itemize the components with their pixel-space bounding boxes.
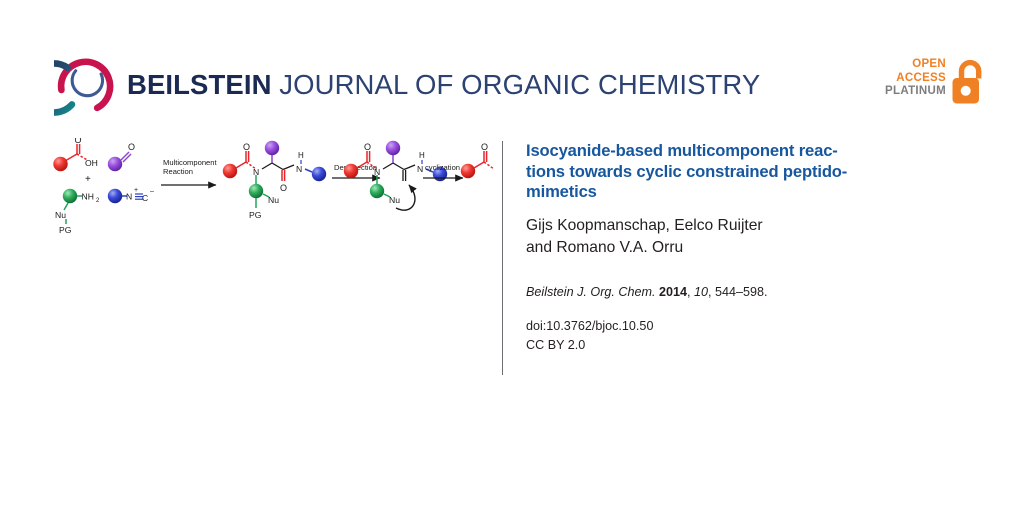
article-doi[interactable]: doi:10.3762/bjoc.10.50 (526, 317, 956, 336)
authors-line-1: Gijs Koopmanschap, Eelco Ruijter (526, 217, 763, 234)
svg-text:O: O (280, 183, 287, 193)
svg-text:Reaction: Reaction (163, 167, 193, 176)
reactant-carboxylic-acid: O OH (53, 138, 98, 171)
open-padlock-icon (950, 59, 988, 106)
masthead: BEILSTEIN JOURNAL OF ORGANIC CHEMISTRY O… (0, 0, 1024, 130)
svg-text:Multicomponent: Multicomponent (163, 158, 217, 167)
article-license[interactable]: CC BY 2.0 (526, 336, 956, 355)
article-title: Isocyanide-based multicomponent reac- ti… (526, 141, 956, 203)
svg-text:–: – (150, 188, 154, 195)
svg-text:Nu: Nu (268, 195, 279, 205)
arrow-multicomponent-reaction: Multicomponent Reaction (161, 158, 217, 185)
svg-text:OH: OH (85, 158, 98, 168)
svg-text:N: N (126, 192, 132, 202)
product-linear-adduct: O N O H N Nu PG (223, 141, 326, 220)
citation-journal: Beilstein J. Org. Chem. (526, 285, 655, 299)
product-deprotected-adduct: O N H N Nu (344, 141, 447, 210)
citation-pages: 544–598. (715, 285, 768, 299)
svg-text:N: N (296, 164, 302, 174)
article-authors: Gijs Koopmanschap, Eelco Ruijter and Rom… (526, 215, 956, 259)
open-access-badge: OPEN ACCESS PLATINUM (884, 58, 988, 110)
svg-text:N: N (417, 164, 423, 174)
svg-text:C: C (142, 193, 148, 203)
article-metadata: Isocyanide-based multicomponent reac- ti… (526, 141, 956, 355)
open-access-text: OPEN ACCESS PLATINUM (885, 58, 946, 99)
svg-text:cyclization: cyclization (425, 163, 460, 172)
journal-wordmark: BEILSTEIN JOURNAL OF ORGANIC CHEMISTRY (127, 71, 760, 99)
svg-text:Nu: Nu (389, 195, 400, 205)
wordmark-journal-of-organic-chemistry: JOURNAL OF ORGANIC CHEMISTRY (272, 69, 761, 100)
reactant-amine: NH 2 Nu PG (55, 189, 100, 234)
svg-text:O: O (243, 142, 250, 152)
content-divider (502, 141, 503, 375)
svg-text:PG: PG (249, 210, 262, 220)
svg-text:O: O (481, 142, 488, 152)
product-cyclic-peptidomimetic: O (461, 142, 494, 178)
oa-line-open: OPEN (885, 58, 946, 72)
citation-year: 2014 (659, 285, 687, 299)
citation-volume: 10 (694, 285, 708, 299)
beilstein-spiral-logo (54, 54, 116, 116)
reactant-aldehyde: O (108, 142, 135, 171)
svg-text:PG: PG (59, 225, 72, 234)
svg-text:2: 2 (96, 198, 100, 204)
title-line-3: mimetics (526, 182, 597, 201)
oa-line-platinum: PLATINUM (885, 85, 946, 99)
oa-line-access: ACCESS (885, 72, 946, 86)
wordmark-beilstein: BEILSTEIN (127, 69, 272, 100)
title-line-2: tions towards cyclic constrained peptido… (526, 162, 847, 181)
svg-text:+: + (134, 187, 138, 194)
reactant-isocyanide: N + C – (108, 187, 154, 203)
svg-text:H: H (298, 151, 304, 160)
reaction-scheme: O OH + NH 2 Nu PG O N + (44, 138, 494, 234)
svg-text:NH: NH (82, 192, 94, 202)
svg-text:+: + (85, 174, 91, 185)
article-citation: Beilstein J. Org. Chem. 2014, 10, 544–59… (526, 284, 956, 301)
svg-text:H: H (419, 151, 425, 160)
authors-line-2: and Romano V.A. Orru (526, 239, 683, 256)
svg-text:Nu: Nu (55, 210, 66, 220)
svg-text:O: O (364, 142, 371, 152)
title-line-1: Isocyanide-based multicomponent reac- (526, 141, 838, 160)
svg-text:O: O (128, 142, 135, 152)
svg-text:O: O (75, 138, 82, 145)
